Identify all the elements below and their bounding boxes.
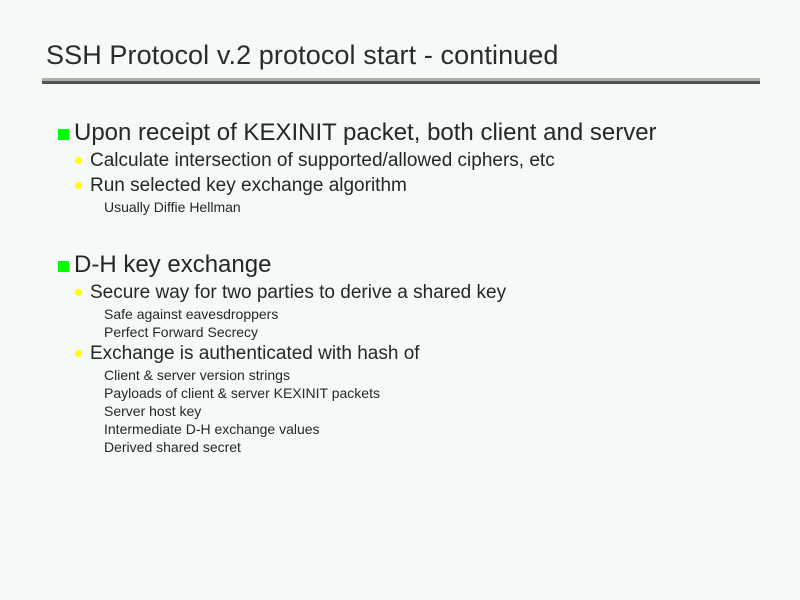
- bullet-level2-label: Calculate intersection of supported/allo…: [90, 150, 555, 171]
- bullet-level3-label: Server host key: [104, 403, 201, 419]
- bullet-level3-label: Usually Diffie Hellman: [104, 199, 241, 215]
- bullet-level3-label: Payloads of client & server KEXINIT pack…: [104, 385, 380, 401]
- square-bullet-icon: [58, 261, 69, 272]
- slide-body: Upon receipt of KEXINIT packet, both cli…: [46, 118, 766, 456]
- bullet-level3: Derived shared secret: [46, 438, 766, 456]
- bullet-level2: Exchange is authenticated with hash of: [46, 341, 766, 366]
- round-bullet-icon: [75, 350, 82, 357]
- title-underline-rule: [42, 78, 760, 84]
- group-spacer: [46, 216, 766, 250]
- bullet-level2: Run selected key exchange algorithm: [46, 173, 766, 198]
- bullet-level3-label: Safe against eavesdroppers: [104, 306, 278, 322]
- bullet-level3: Perfect Forward Secrecy: [46, 323, 766, 341]
- bullet-level2: Secure way for two parties to derive a s…: [46, 280, 766, 305]
- round-bullet-icon: [75, 289, 82, 296]
- bullet-level3-label: Client & server version strings: [104, 367, 290, 383]
- bullet-level3: Safe against eavesdroppers: [46, 305, 766, 323]
- bullet-level3-label: Perfect Forward Secrecy: [104, 324, 258, 340]
- bullet-level1: Upon receipt of KEXINIT packet, both cli…: [46, 118, 766, 148]
- bullet-level1-label: Upon receipt of KEXINIT packet, both cli…: [74, 119, 657, 146]
- bullet-level3: Payloads of client & server KEXINIT pack…: [46, 384, 766, 402]
- slide-title: SSH Protocol v.2 protocol start - contin…: [42, 38, 760, 72]
- bullet-level3: Intermediate D-H exchange values: [46, 420, 766, 438]
- round-bullet-icon: [75, 182, 82, 189]
- bullet-level3-label: Derived shared secret: [104, 439, 241, 455]
- bullet-level3: Client & server version strings: [46, 366, 766, 384]
- round-bullet-icon: [75, 157, 82, 164]
- square-bullet-icon: [58, 129, 69, 140]
- bullet-level2-label: Exchange is authenticated with hash of: [90, 343, 420, 364]
- bullet-level2-label: Secure way for two parties to derive a s…: [90, 282, 506, 303]
- presentation-slide: SSH Protocol v.2 protocol start - contin…: [0, 0, 800, 600]
- bullet-level2-label: Run selected key exchange algorithm: [90, 175, 407, 196]
- bullet-level3: Usually Diffie Hellman: [46, 198, 766, 216]
- bullet-level3-label: Intermediate D-H exchange values: [104, 421, 320, 437]
- bullet-level1: D-H key exchange: [46, 250, 766, 280]
- slide-title-block: SSH Protocol v.2 protocol start - contin…: [42, 38, 760, 84]
- bullet-level1-label: D-H key exchange: [74, 251, 271, 278]
- bullet-level2: Calculate intersection of supported/allo…: [46, 148, 766, 173]
- bullet-level3: Server host key: [46, 402, 766, 420]
